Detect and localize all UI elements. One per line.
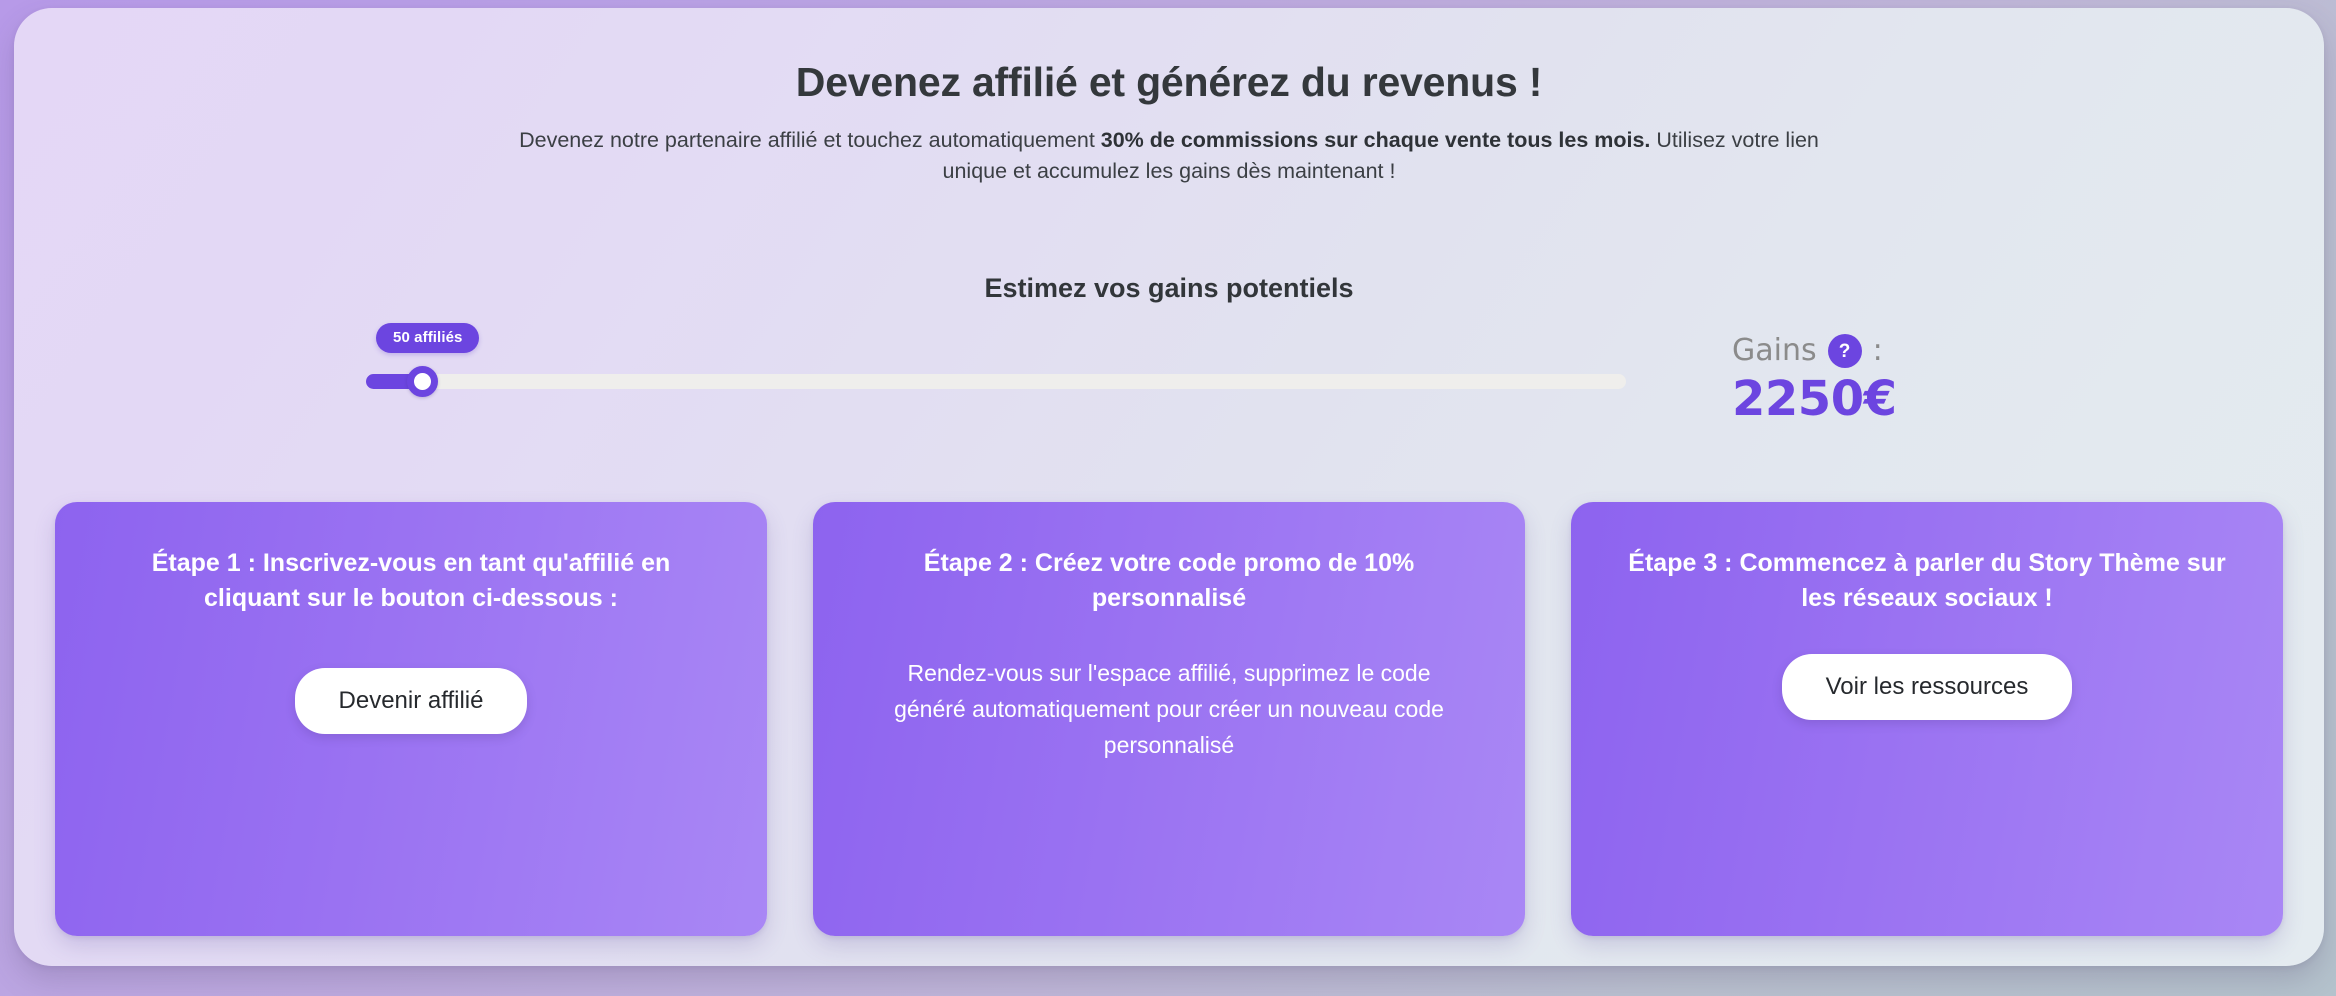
- step-card-1-title: Étape 1 : Inscrivez-vous en tant qu'affi…: [101, 546, 721, 616]
- gains-value: 2250€: [1732, 374, 2152, 424]
- step-card-1: Étape 1 : Inscrivez-vous en tant qu'affi…: [55, 502, 767, 936]
- page-subtitle: Devenez notre partenaire affilié et touc…: [484, 125, 1854, 186]
- header: Devenez affilié et générez du revenus ! …: [14, 58, 2324, 186]
- subtitle-commission-highlight: 30% de commissions sur chaque vente tous…: [1101, 128, 1651, 152]
- question-mark-icon[interactable]: ?: [1828, 334, 1862, 368]
- gains-estimate: Gains ? : 2250€: [1732, 334, 2152, 424]
- gains-label: Gains: [1732, 336, 1817, 366]
- gains-label-row: Gains ? :: [1732, 334, 2152, 368]
- page-title: Devenez affilié et générez du revenus !: [14, 58, 2324, 107]
- step-card-2-title: Étape 2 : Créez votre code promo de 10% …: [859, 546, 1479, 616]
- step-card-3: Étape 3 : Commencez à parler du Story Th…: [1571, 502, 2283, 936]
- slider-thumb[interactable]: [407, 366, 438, 397]
- subtitle-text-part1: Devenez notre partenaire affilié et touc…: [519, 128, 1101, 152]
- slider-track[interactable]: [366, 374, 1626, 389]
- affiliate-count-slider[interactable]: 50 affiliés: [366, 323, 1636, 392]
- affiliate-promo-panel: Devenez affilié et générez du revenus ! …: [14, 8, 2324, 966]
- step-card-2: Étape 2 : Créez votre code promo de 10% …: [813, 502, 1525, 936]
- gains-colon: :: [1873, 336, 1883, 366]
- step-card-2-body: Rendez-vous sur l'espace affilié, suppri…: [869, 656, 1469, 764]
- slider-rail[interactable]: [366, 370, 1626, 392]
- voir-les-ressources-button[interactable]: Voir les ressources: [1782, 654, 2073, 720]
- steps-row: Étape 1 : Inscrivez-vous en tant qu'affi…: [14, 502, 2324, 936]
- step-card-3-title: Étape 3 : Commencez à parler du Story Th…: [1617, 546, 2237, 616]
- slider-value-badge: 50 affiliés: [376, 323, 479, 353]
- estimator-heading: Estimez vos gains potentiels: [14, 273, 2324, 304]
- devenir-affilie-button[interactable]: Devenir affilié: [295, 668, 528, 734]
